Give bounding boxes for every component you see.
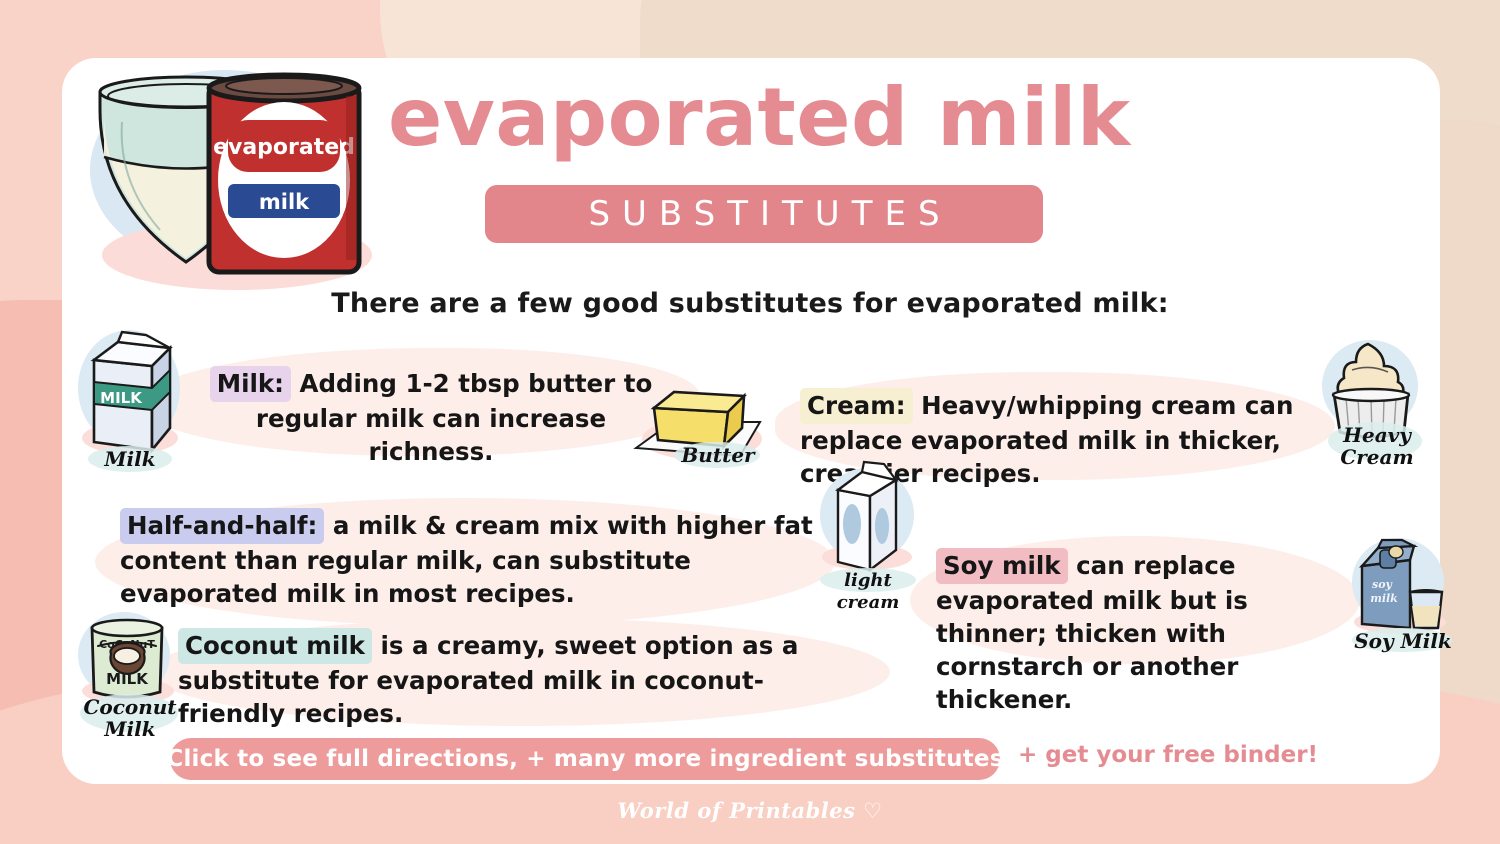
substitute-entry-half-and-half: Half-and-half: a milk & cream mix with h…: [120, 508, 820, 610]
footer: World of Printables ♡: [0, 798, 1500, 823]
substitute-entry-milk: Milk: Adding 1-2 tbsp butter to regular …: [196, 366, 666, 468]
full-directions-button-label: Click to see full directions, + many mor…: [166, 746, 1003, 772]
substitute-body-milk: Adding 1-2 tbsp butter to regular milk c…: [256, 369, 652, 466]
substitute-tag-half-and-half: Half-and-half:: [120, 508, 324, 544]
page-title: evaporated milk: [388, 72, 1128, 164]
coconut-milk-caption: Coconut Milk: [76, 696, 184, 740]
brand-name: World of Printables ♡: [617, 798, 882, 823]
butter-caption: Butter: [668, 444, 768, 466]
soymilk-package-text-2: milk: [1370, 592, 1398, 605]
intro-text: There are a few good substitutes for eva…: [300, 288, 1200, 319]
soy-milk-illustration: soy milk Soy Milk: [1352, 538, 1462, 653]
substitute-entry-coconut-milk: Coconut milk is a creamy, sweet option a…: [178, 628, 858, 730]
milk-package-text: MILK: [100, 389, 143, 407]
light-cream-caption: light cream: [812, 570, 924, 614]
coconut-package-text-2: MILK: [106, 670, 149, 688]
subtitle-text: SUBSTITUTES: [576, 194, 951, 234]
substitute-tag-coconut-milk: Coconut milk: [178, 628, 372, 664]
butter-illustration: Butter: [628, 382, 768, 472]
substitute-tag-milk: Milk:: [210, 366, 291, 402]
substitute-entry-soy-milk: Soy milk can replace evaporated milk but…: [936, 548, 1336, 716]
heavy-cream-caption: Heavy Cream: [1322, 424, 1432, 468]
subtitle-pill: SUBSTITUTES: [485, 185, 1043, 243]
evaporated-milk-hero-illustration: evaporated milk: [82, 62, 382, 292]
substitute-tag-cream: Cream:: [800, 388, 913, 424]
soymilk-package-text-1: soy: [1372, 578, 1394, 591]
substitute-tag-soy-milk: Soy milk: [936, 548, 1068, 584]
hero-svg: evaporated milk: [82, 62, 382, 292]
milk-carton-illustration: MILK Milk: [74, 330, 184, 470]
light-cream-illustration: light cream: [818, 458, 918, 598]
hero-can-label-top: evaporated: [213, 135, 355, 160]
free-binder-link[interactable]: + get your free binder!: [1018, 742, 1318, 768]
heavy-cream-illustration: Heavy Cream: [1322, 336, 1432, 461]
coconut-milk-illustration: CoCoNuT MILK Coconut Milk: [78, 612, 183, 717]
hero-can-label-bottom: milk: [259, 190, 310, 214]
soy-milk-caption: Soy Milk: [1348, 630, 1458, 652]
milk-caption: Milk: [80, 448, 180, 470]
full-directions-button[interactable]: Click to see full directions, + many mor…: [170, 738, 1000, 780]
infographic-canvas: evaporated milk evaporated milk SUBSTITU…: [0, 0, 1500, 844]
